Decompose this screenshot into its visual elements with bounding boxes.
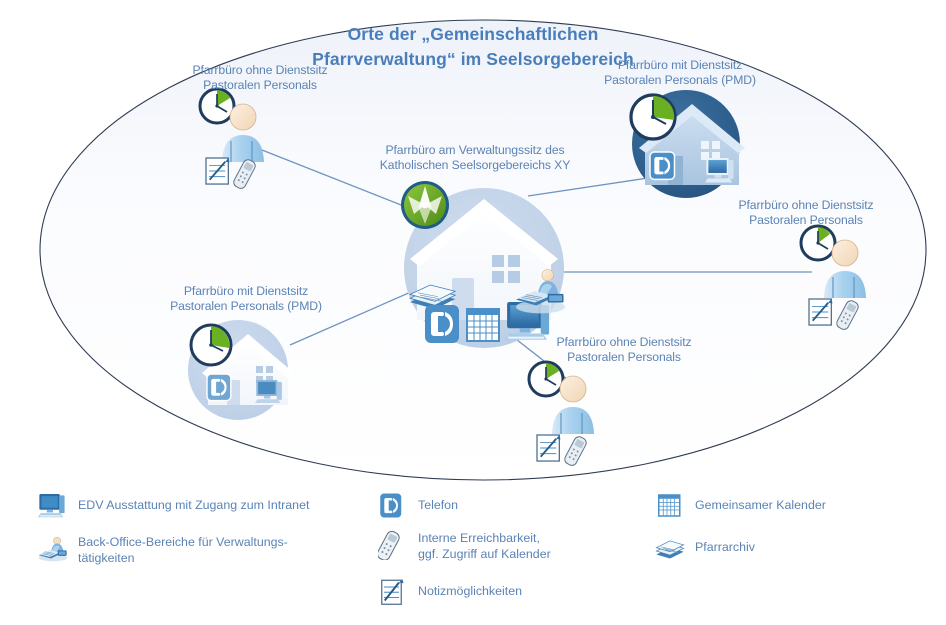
computer-icon (255, 380, 282, 403)
node-label-left-pmd: Pfarrbüro mit Dienstsitz Pastoralen Pers… (146, 284, 346, 314)
notepad-icon (537, 435, 561, 461)
legend-item-edv: EDV Ausstattung mit Zugang zum Intranet (38, 492, 309, 522)
legend-item-interne-erreichbarkeit: Interne Erreichbarkeit, ggf. Zugriff auf… (378, 530, 551, 562)
label-line-2: Pastoralen Personals (533, 350, 715, 365)
computer-icon (705, 158, 734, 182)
clock-icon (200, 89, 234, 123)
back-office-icon (38, 534, 68, 564)
notepad-icon (809, 299, 833, 325)
label-line-1: Pfarrbüro mit Dienstsitz (585, 58, 775, 73)
mobile-phone-icon (378, 530, 408, 560)
node-label-top-right-pmd: Pfarrbüro mit Dienstsitz Pastoralen Pers… (585, 58, 775, 88)
computer-icon (38, 492, 68, 522)
legend-text-line-1: Notizmöglichkeiten (418, 583, 522, 599)
label-line-1: Pfarrbüro ohne Dienstsitz (533, 335, 715, 350)
label-line-1: Pfarrbüro mit Dienstsitz (146, 284, 346, 299)
diagram-canvas: Orte der „Gemeinschaftlichen Pfarrverwal… (0, 0, 946, 625)
legend-text-line-1: Gemeinsamer Kalender (695, 497, 826, 513)
clock-icon (801, 226, 835, 260)
legend-text-line-2: tätigkeiten (78, 550, 288, 566)
legend-text-line-1: Back-Office-Bereiche für Verwaltungs- (78, 534, 288, 550)
legend-text: Pfarrarchiv (685, 534, 755, 555)
page-title-line1: Orte der „Gemeinschaftlichen (0, 22, 946, 47)
telephone-icon (207, 374, 231, 401)
calendar-icon (655, 492, 685, 522)
legend-text: Interne Erreichbarkeit, ggf. Zugriff auf… (408, 530, 551, 562)
telephone-icon (378, 492, 408, 522)
notepad-icon (378, 578, 408, 608)
legend-item-notizmoeglichkeiten: Notizmöglichkeiten (378, 578, 522, 608)
legend-text: Back-Office-Bereiche für Verwaltungs- tä… (68, 534, 288, 566)
legend-text-line-1: Interne Erreichbarkeit, (418, 530, 551, 546)
compass-clock-icon (401, 181, 449, 229)
label-line-2: Pastoralen Personals (140, 78, 380, 93)
legend-text: Telefon (408, 492, 458, 513)
legend-text-line-1: EDV Ausstattung mit Zugang zum Intranet (78, 497, 309, 513)
legend-item-back-office: Back-Office-Bereiche für Verwaltungs- tä… (38, 534, 288, 566)
label-line-2: Pastoralen Personals (PMD) (585, 73, 775, 88)
node-label-center: Pfarrbüro am Verwaltungssitz des Katholi… (364, 143, 586, 173)
legend-text-line-1: Telefon (418, 497, 458, 513)
clock-icon (529, 362, 563, 396)
node-label-bottom-person: Pfarrbüro ohne Dienstsitz Pastoralen Per… (533, 335, 715, 365)
label-line-1: Pfarrbüro am Verwaltungssitz des (364, 143, 586, 158)
legend-text: Gemeinsamer Kalender (685, 492, 826, 513)
legend-text: Notizmöglichkeiten (408, 578, 522, 599)
notepad-icon (206, 158, 230, 184)
archive-icon (655, 534, 685, 564)
telephone-icon (650, 152, 674, 179)
label-line-1: Pfarrbüro ohne Dienstsitz (140, 63, 380, 78)
label-line-2: Pastoralen Personals (716, 213, 896, 228)
clock-icon (631, 95, 675, 139)
legend-item-pfarrarchiv: Pfarrarchiv (655, 534, 755, 564)
calendar-icon (466, 308, 500, 342)
legend: EDV Ausstattung mit Zugang zum Intranet (0, 488, 946, 613)
node-label-top-left-person: Pfarrbüro ohne Dienstsitz Pastoralen Per… (140, 63, 380, 93)
clock-icon (191, 325, 231, 365)
legend-text-line-2: ggf. Zugriff auf Kalender (418, 546, 551, 562)
legend-text-line-1: Pfarrarchiv (695, 539, 755, 555)
label-line-2: Katholischen Seelsorgebereichs XY (364, 158, 586, 173)
telephone-icon (425, 305, 459, 343)
node-label-right-person: Pfarrbüro ohne Dienstsitz Pastoralen Per… (716, 198, 896, 228)
legend-item-kalender: Gemeinsamer Kalender (655, 492, 826, 522)
label-line-1: Pfarrbüro ohne Dienstsitz (716, 198, 896, 213)
legend-item-telefon: Telefon (378, 492, 458, 522)
legend-text: EDV Ausstattung mit Zugang zum Intranet (68, 492, 309, 513)
label-line-2: Pastoralen Personals (PMD) (146, 299, 346, 314)
